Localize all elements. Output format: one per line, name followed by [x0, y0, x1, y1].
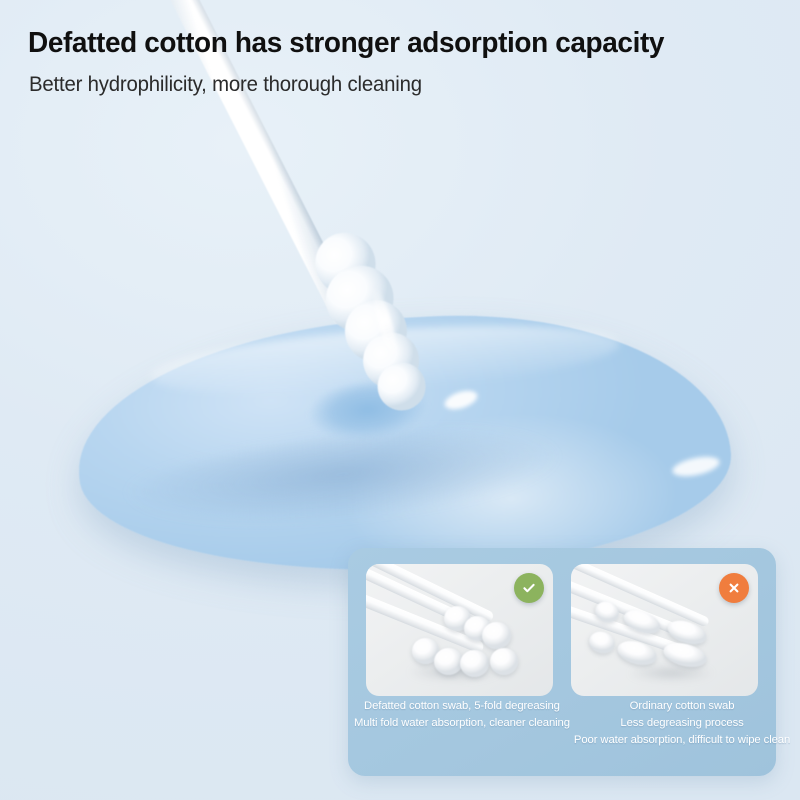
comparison-captions: Defatted cotton swab, 5-fold degreasing … [348, 698, 776, 749]
status-badge-recommended [514, 573, 544, 603]
caption-defatted: Defatted cotton swab, 5-fold degreasing … [354, 698, 570, 749]
comparison-card-defatted[interactable] [366, 564, 553, 696]
status-badge-not-recommended [719, 573, 749, 603]
page-title: Defatted cotton has stronger adsorption … [28, 27, 664, 60]
caption-line: Poor water absorption, difficult to wipe… [574, 732, 790, 749]
caption-line: Defatted cotton swab, 5-fold degreasing [354, 698, 570, 715]
caption-line: Multi fold water absorption, cleaner cle… [354, 715, 570, 732]
caption-ordinary: Ordinary cotton swab Less degreasing pro… [574, 698, 790, 749]
check-icon [521, 580, 537, 596]
page-subtitle: Better hydrophilicity, more thorough cle… [29, 73, 422, 97]
comparison-panel: Defatted cotton swab, 5-fold degreasing … [348, 548, 776, 776]
product-banner: Defatted cotton has stronger adsorption … [0, 0, 800, 800]
close-icon [726, 580, 742, 596]
comparison-cards [348, 548, 776, 696]
caption-line: Ordinary cotton swab [574, 698, 790, 715]
comparison-card-ordinary[interactable] [571, 564, 758, 696]
caption-line: Less degreasing process [574, 715, 790, 732]
